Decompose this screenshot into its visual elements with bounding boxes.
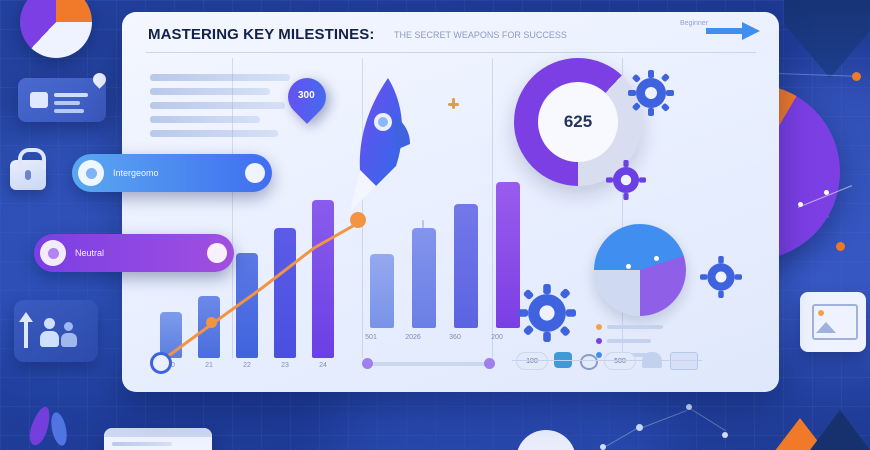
footer-chip-5[interactable] — [670, 352, 698, 370]
gear-icon-mid — [606, 160, 646, 200]
legend-bar-1 — [607, 339, 651, 343]
rocket-icon — [342, 74, 414, 224]
footer-connector — [512, 360, 702, 361]
gear-icon-top — [628, 70, 674, 116]
pill-1-knob — [40, 240, 66, 266]
arrow-up-icon — [24, 318, 28, 348]
pill-button-0[interactable]: Intergeomo — [72, 154, 272, 192]
legend-bar-0 — [607, 325, 663, 329]
gear-icon-right — [700, 256, 742, 298]
page-subtitle: THE SECRET WEAPONS FOR SUCCESS — [394, 30, 567, 40]
slider-track[interactable] — [368, 362, 492, 366]
bottom-browser-bar — [104, 428, 212, 437]
pill-0-label: Intergeomo — [113, 168, 159, 178]
left-info-card-line-3 — [54, 109, 84, 113]
network-node-3 — [836, 242, 845, 251]
slider-handle-right[interactable] — [484, 358, 495, 369]
gear-icon-left — [518, 284, 576, 342]
trend-node-mid — [206, 317, 217, 328]
sparkle-2 — [448, 103, 459, 106]
map-pin-value: 300 — [298, 90, 315, 101]
network-node-1 — [852, 72, 861, 81]
bar-right-label-3: 200 — [482, 334, 512, 341]
pie-small-node-2 — [654, 256, 659, 261]
text-placeholder-line-3 — [150, 102, 285, 109]
constellation-node-3 — [722, 432, 728, 438]
text-placeholder-line-2 — [150, 88, 270, 95]
bar-right-3 — [496, 182, 520, 328]
bottom-browser-line-1 — [112, 442, 172, 446]
legend-row-1 — [596, 338, 651, 344]
pie-small-node-1 — [626, 264, 631, 269]
lock-keyhole — [25, 170, 31, 180]
pill-button-1[interactable]: Neutral — [34, 234, 234, 272]
pill-0-knob — [78, 160, 104, 186]
legend-dot-1 — [596, 338, 602, 344]
image-placeholder-mountain — [816, 322, 836, 333]
bar-right-2 — [454, 204, 478, 328]
left-info-card-icon — [30, 92, 48, 108]
bar-right-label-1: 2026 — [398, 334, 428, 341]
avatar-body-1 — [40, 331, 59, 347]
pill-1-toggle[interactable] — [207, 243, 227, 263]
footer-chip-2 — [580, 354, 598, 370]
image-placeholder-sun — [818, 310, 824, 316]
pill-1-label: Neutral — [75, 248, 104, 258]
lock-shackle — [18, 148, 46, 170]
pie-large-trend-dot-2 — [824, 190, 829, 195]
pie-large-trend-dot-1 — [798, 202, 803, 207]
legend-dot-2 — [596, 352, 602, 358]
decor-triangle-navy — [810, 410, 870, 450]
dashboard-card: MASTERING KEY MILESTINES: THE SECRET WEA… — [122, 12, 779, 392]
pie-small — [594, 224, 686, 316]
bar-right-label-2: 360 — [440, 334, 470, 341]
arrow-up-head — [19, 312, 33, 322]
text-placeholder-line-5 — [150, 130, 278, 137]
text-placeholder-line-4 — [150, 116, 260, 123]
pill-0-toggle[interactable] — [245, 163, 265, 183]
text-placeholder-line-1 — [150, 74, 290, 81]
gauge-value: 625 — [538, 82, 618, 162]
illustration-canvas: MASTERING KEY MILESTINES: THE SECRET WEA… — [0, 0, 870, 450]
slider-handle-left[interactable] — [362, 358, 373, 369]
footer-chip-0[interactable]: 100 — [516, 352, 548, 370]
page-title: MASTERING KEY MILESTINES: — [148, 26, 374, 43]
avatar-1 — [44, 318, 55, 329]
legend-dot-0 — [596, 324, 602, 330]
trend-node-start — [150, 352, 172, 374]
title-divider — [146, 52, 756, 53]
footer-chip-3[interactable]: 500 — [604, 352, 636, 370]
legend-row-0 — [596, 324, 663, 330]
avatar-body-2 — [61, 333, 77, 347]
bar-right-1 — [412, 228, 436, 328]
avatar-2 — [64, 322, 73, 331]
next-arrow-label: Beginner — [680, 20, 708, 27]
arrow-right-icon[interactable] — [706, 22, 760, 40]
left-info-card-line-2 — [54, 101, 80, 105]
sparkle-3 — [422, 220, 424, 228]
left-info-card-line-1 — [54, 93, 88, 97]
